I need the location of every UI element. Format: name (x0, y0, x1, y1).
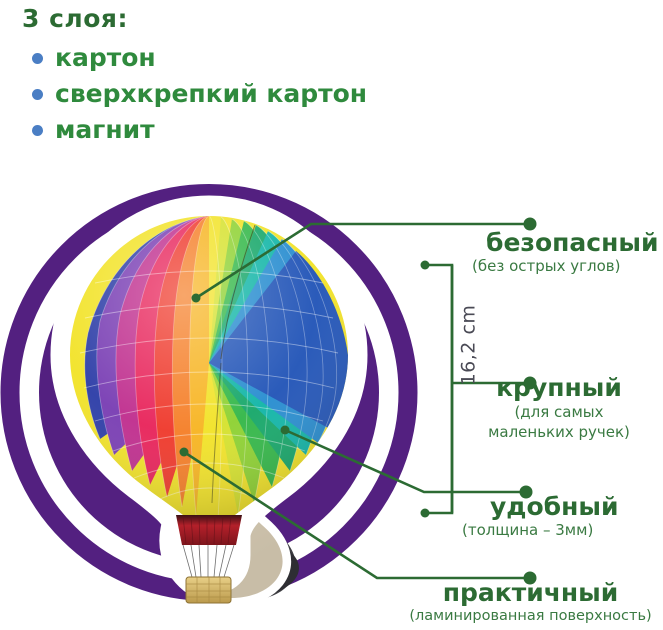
infographic-root: 3 слоя: картон сверхкрепкий картон магни… (0, 0, 663, 630)
callout-title: практичный (398, 578, 663, 607)
list-item: сверхкрепкий картон (32, 76, 418, 112)
bullet-icon (32, 125, 43, 136)
product-badge (0, 163, 418, 622)
callout-title: удобный (490, 492, 663, 521)
dimension-dot-top (421, 261, 430, 270)
layers-block: 3 слоя: картон сверхкрепкий картон магни… (18, 4, 418, 148)
callout-title: безопасный (486, 228, 658, 257)
balloon-basket (186, 577, 231, 603)
layers-title: 3 слоя: (22, 4, 418, 34)
bullet-icon (32, 53, 43, 64)
callout-handy: удобный (толщина – 3мм) (462, 492, 663, 540)
callout-subtitle-line2: маленьких ручек) (455, 422, 663, 442)
callout-title: крупный (455, 373, 663, 402)
callout-safe: безопасный (без острых углов) (470, 228, 658, 276)
layer-label: магнит (55, 116, 155, 144)
callout-subtitle: (толщина – 3мм) (462, 521, 663, 540)
callout-big: крупный (для самых маленьких ручек) (455, 373, 663, 442)
layer-label: картон (55, 44, 156, 72)
list-item: магнит (32, 112, 418, 148)
bullet-icon (32, 89, 43, 100)
list-item: картон (32, 40, 418, 76)
balloon-skirt (176, 515, 242, 545)
dimension-bracket (425, 265, 452, 513)
callout-practical: практичный (ламинированная поверхность) (398, 578, 663, 626)
dimension-dot-bottom (421, 509, 430, 518)
layer-label: сверхкрепкий картон (55, 80, 367, 108)
callout-subtitle: (без острых углов) (472, 257, 658, 276)
callout-subtitle: (ламинированная поверхность) (398, 607, 663, 626)
callout-subtitle-line1: (для самых (455, 402, 663, 422)
